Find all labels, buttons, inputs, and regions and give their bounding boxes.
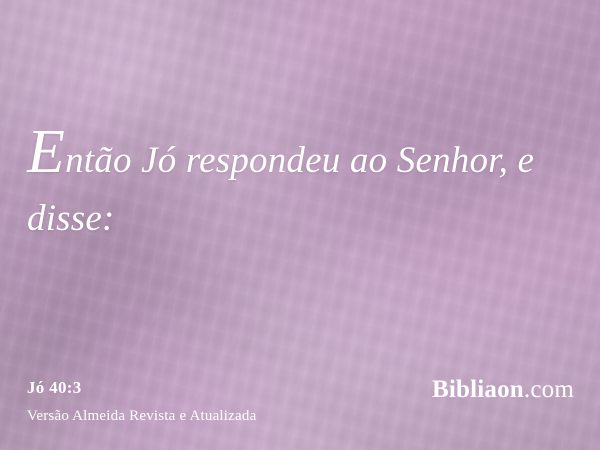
card-footer: Jó 40:3 Versão Almeida Revista e Atualiz… bbox=[0, 364, 600, 450]
brand-biblia: Biblia bbox=[432, 376, 497, 403]
verse-text: Então Jó respondeu ao Senhor, e disse: bbox=[27, 128, 575, 248]
brand-com: .com bbox=[524, 376, 574, 403]
verse-dropcap: E bbox=[27, 118, 65, 186]
brand-logo: Bibliaon.com bbox=[432, 376, 574, 404]
verse-card: Então Jó respondeu ao Senhor, e disse: J… bbox=[0, 0, 600, 450]
verse-reference: Jó 40:3 bbox=[27, 378, 82, 398]
brand-on: on bbox=[497, 376, 524, 403]
bible-version-label: Versão Almeida Revista e Atualizada bbox=[27, 408, 256, 425]
verse-body: ntão Jó respondeu ao Senhor, e disse: bbox=[27, 140, 534, 239]
